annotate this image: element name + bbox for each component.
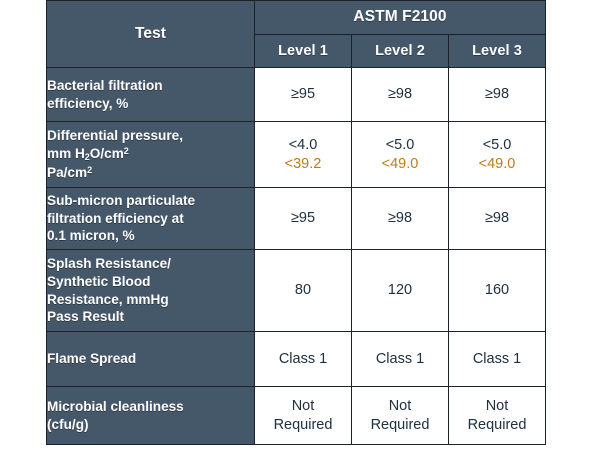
table-row: Sub-micron particulatefiltration efficie… [47, 188, 546, 250]
header-level-2: Level 2 [352, 34, 449, 68]
value-primary: Not [352, 397, 448, 416]
value-cell-level-2: 120 [352, 250, 449, 332]
row-label-line: 0.1 micron, % [47, 228, 135, 243]
value-primary: ≥95 [255, 209, 351, 228]
value-cell-level-3: <5.0<49.0 [449, 122, 546, 188]
row-label-line: Splash Resistance/ [47, 256, 171, 271]
value-primary: ≥95 [255, 85, 351, 104]
value-cell-level-2: ≥98 [352, 68, 449, 122]
row-label-line: Pa/cm2 [47, 165, 92, 180]
row-label-line: Resistance, mmHg [47, 292, 169, 307]
row-label: Differential pressure,mm H2O/cm2Pa/cm2 [47, 122, 255, 188]
value-cell-level-1: ≥95 [255, 188, 352, 250]
value-primary: <4.0 [255, 136, 351, 155]
value-cell-level-3: ≥98 [449, 188, 546, 250]
value-primary: Class 1 [352, 350, 448, 369]
value-primary-2: Required [449, 416, 545, 435]
value-cell-level-2: Class 1 [352, 332, 449, 387]
row-label-line: Differential pressure, [47, 128, 183, 143]
row-label-line: Microbial cleanliness [47, 399, 184, 414]
row-label-line: filtration efficiency at [47, 211, 184, 226]
header-level-3: Level 3 [449, 34, 546, 68]
row-label: Flame Spread [47, 332, 255, 387]
row-label-line: (cfu/g) [47, 417, 89, 432]
row-label: Bacterial filtrationefficiency, % [47, 68, 255, 122]
table-row: Bacterial filtrationefficiency, %≥95≥98≥… [47, 68, 546, 122]
value-primary: Class 1 [255, 350, 351, 369]
value-cell-level-1: Class 1 [255, 332, 352, 387]
value-primary: 120 [352, 281, 448, 300]
header-test: Test [47, 1, 255, 68]
value-cell-level-3: ≥98 [449, 68, 546, 122]
header-astm-f2100: ASTM F2100 [255, 1, 546, 35]
astm-f2100-spec-table: Test ASTM F2100 Level 1 Level 2 Level 3 … [46, 0, 546, 445]
value-cell-level-2: <5.0<49.0 [352, 122, 449, 188]
value-secondary: <49.0 [449, 155, 545, 174]
header-level-1: Level 1 [255, 34, 352, 68]
value-primary: <5.0 [449, 136, 545, 155]
value-primary: 160 [449, 281, 545, 300]
table-body: Bacterial filtrationefficiency, %≥95≥98≥… [47, 68, 546, 445]
value-secondary: <49.0 [352, 155, 448, 174]
row-label-line: Synthetic Blood [47, 274, 150, 289]
value-cell-level-3: Class 1 [449, 332, 546, 387]
row-label-line: Flame Spread [47, 351, 136, 366]
value-primary: Not [449, 397, 545, 416]
value-primary: ≥98 [449, 85, 545, 104]
value-cell-level-1: ≥95 [255, 68, 352, 122]
row-label: Sub-micron particulatefiltration efficie… [47, 188, 255, 250]
row-label-line: efficiency, % [47, 96, 128, 111]
value-primary: ≥98 [352, 209, 448, 228]
table-row: Differential pressure,mm H2O/cm2Pa/cm2<4… [47, 122, 546, 188]
value-primary: ≥98 [449, 209, 545, 228]
value-cell-level-1: <4.0<39.2 [255, 122, 352, 188]
value-cell-level-2: NotRequired [352, 387, 449, 445]
value-cell-level-3: NotRequired [449, 387, 546, 445]
value-primary: <5.0 [352, 136, 448, 155]
value-cell-level-1: NotRequired [255, 387, 352, 445]
row-label-line: Bacterial filtration [47, 78, 163, 93]
value-cell-level-2: ≥98 [352, 188, 449, 250]
table-row: Splash Resistance/Synthetic BloodResista… [47, 250, 546, 332]
table-row: Flame SpreadClass 1Class 1Class 1 [47, 332, 546, 387]
table-head: Test ASTM F2100 Level 1 Level 2 Level 3 [47, 1, 546, 68]
row-label-line: mm H2O/cm2 [47, 146, 129, 161]
row-label-line: Sub-micron particulate [47, 193, 195, 208]
value-cell-level-3: 160 [449, 250, 546, 332]
value-primary: Class 1 [449, 350, 545, 369]
row-label-line: Pass Result [47, 309, 124, 324]
value-primary: ≥98 [352, 85, 448, 104]
row-label: Microbial cleanliness(cfu/g) [47, 387, 255, 445]
value-primary-2: Required [352, 416, 448, 435]
spec-table-container: Test ASTM F2100 Level 1 Level 2 Level 3 … [46, 0, 546, 445]
value-primary: 80 [255, 281, 351, 300]
row-label: Splash Resistance/Synthetic BloodResista… [47, 250, 255, 332]
value-secondary: <39.2 [255, 155, 351, 174]
table-row: Microbial cleanliness(cfu/g)NotRequiredN… [47, 387, 546, 445]
header-row-group: Test ASTM F2100 [47, 1, 546, 35]
value-primary-2: Required [255, 416, 351, 435]
value-primary: Not [255, 397, 351, 416]
value-cell-level-1: 80 [255, 250, 352, 332]
